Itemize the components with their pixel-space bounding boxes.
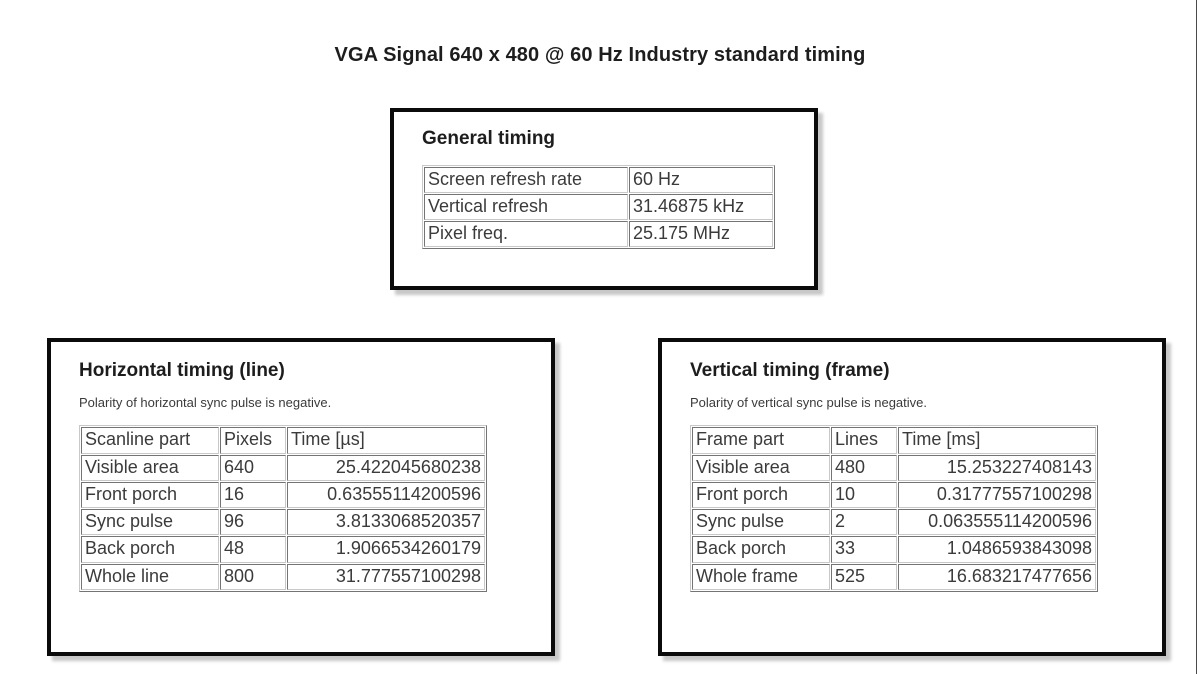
table-row: Whole line 800 31.777557100298 [81, 564, 485, 590]
row-pixels: 48 [220, 536, 286, 562]
row-part: Sync pulse [81, 509, 219, 535]
row-time: 3.8133068520357 [287, 509, 485, 535]
table-row: Front porch 10 0.31777557100298 [692, 482, 1096, 508]
row-pixels: 96 [220, 509, 286, 535]
column-header-time: Time [ms] [898, 427, 1096, 453]
table-header-row: Frame part Lines Time [ms] [692, 427, 1096, 453]
general-row-label: Screen refresh rate [424, 167, 628, 193]
general-row-value: 25.175 MHz [629, 221, 773, 247]
row-time: 0.63555114200596 [287, 482, 485, 508]
vertical-timing-table: Frame part Lines Time [ms] Visible area … [690, 425, 1098, 591]
row-lines: 525 [831, 564, 897, 590]
column-header-time: Time [µs] [287, 427, 485, 453]
table-row: Screen refresh rate 60 Hz [424, 167, 773, 193]
row-lines: 10 [831, 482, 897, 508]
row-part: Whole frame [692, 564, 830, 590]
table-header-row: Scanline part Pixels Time [µs] [81, 427, 485, 453]
column-header-scanline-part: Scanline part [81, 427, 219, 453]
column-header-pixels: Pixels [220, 427, 286, 453]
column-header-frame-part: Frame part [692, 427, 830, 453]
row-time: 15.253227408143 [898, 455, 1096, 481]
row-time: 0.063555114200596 [898, 509, 1096, 535]
row-part: Front porch [81, 482, 219, 508]
general-timing-heading: General timing [422, 126, 814, 153]
table-row: Whole frame 525 16.683217477656 [692, 564, 1096, 590]
row-lines: 480 [831, 455, 897, 481]
row-part: Sync pulse [692, 509, 830, 535]
horizontal-timing-heading: Horizontal timing (line) [79, 358, 551, 385]
row-part: Back porch [81, 536, 219, 562]
row-pixels: 800 [220, 564, 286, 590]
vertical-timing-panel: Vertical timing (frame) Polarity of vert… [658, 338, 1166, 656]
column-header-lines: Lines [831, 427, 897, 453]
general-row-value: 60 Hz [629, 167, 773, 193]
general-timing-panel: General timing Screen refresh rate 60 Hz… [390, 108, 818, 290]
table-row: Back porch 33 1.0486593843098 [692, 536, 1096, 562]
horizontal-polarity-note: Polarity of horizontal sync pulse is neg… [79, 395, 551, 412]
table-row: Vertical refresh 31.46875 kHz [424, 194, 773, 220]
row-pixels: 640 [220, 455, 286, 481]
table-row: Sync pulse 2 0.063555114200596 [692, 509, 1096, 535]
general-row-label: Pixel freq. [424, 221, 628, 247]
row-time: 1.0486593843098 [898, 536, 1096, 562]
horizontal-timing-table-wrapper: Scanline part Pixels Time [µs] Visible a… [79, 425, 551, 591]
table-row: Sync pulse 96 3.8133068520357 [81, 509, 485, 535]
general-row-label: Vertical refresh [424, 194, 628, 220]
table-row: Pixel freq. 25.175 MHz [424, 221, 773, 247]
row-time: 16.683217477656 [898, 564, 1096, 590]
row-time: 25.422045680238 [287, 455, 485, 481]
page-title: VGA Signal 640 x 480 @ 60 Hz Industry st… [0, 44, 1200, 67]
table-row: Back porch 48 1.9066534260179 [81, 536, 485, 562]
horizontal-timing-table: Scanline part Pixels Time [µs] Visible a… [79, 425, 487, 591]
general-row-value: 31.46875 kHz [629, 194, 773, 220]
vertical-polarity-note: Polarity of vertical sync pulse is negat… [690, 395, 1162, 412]
row-time: 0.31777557100298 [898, 482, 1096, 508]
table-row: Visible area 480 15.253227408143 [692, 455, 1096, 481]
horizontal-timing-panel: Horizontal timing (line) Polarity of hor… [47, 338, 555, 656]
vertical-timing-table-wrapper: Frame part Lines Time [ms] Visible area … [690, 425, 1162, 591]
row-time: 1.9066534260179 [287, 536, 485, 562]
row-pixels: 16 [220, 482, 286, 508]
row-part: Back porch [692, 536, 830, 562]
table-row: Visible area 640 25.422045680238 [81, 455, 485, 481]
row-part: Front porch [692, 482, 830, 508]
general-timing-table-wrapper: Screen refresh rate 60 Hz Vertical refre… [422, 165, 814, 250]
row-part: Whole line [81, 564, 219, 590]
vertical-timing-heading: Vertical timing (frame) [690, 358, 1162, 385]
row-part: Visible area [81, 455, 219, 481]
row-time: 31.777557100298 [287, 564, 485, 590]
table-row: Front porch 16 0.63555114200596 [81, 482, 485, 508]
page-right-rule [1196, 0, 1197, 674]
row-part: Visible area [692, 455, 830, 481]
row-lines: 2 [831, 509, 897, 535]
general-timing-table: Screen refresh rate 60 Hz Vertical refre… [422, 165, 775, 250]
row-lines: 33 [831, 536, 897, 562]
